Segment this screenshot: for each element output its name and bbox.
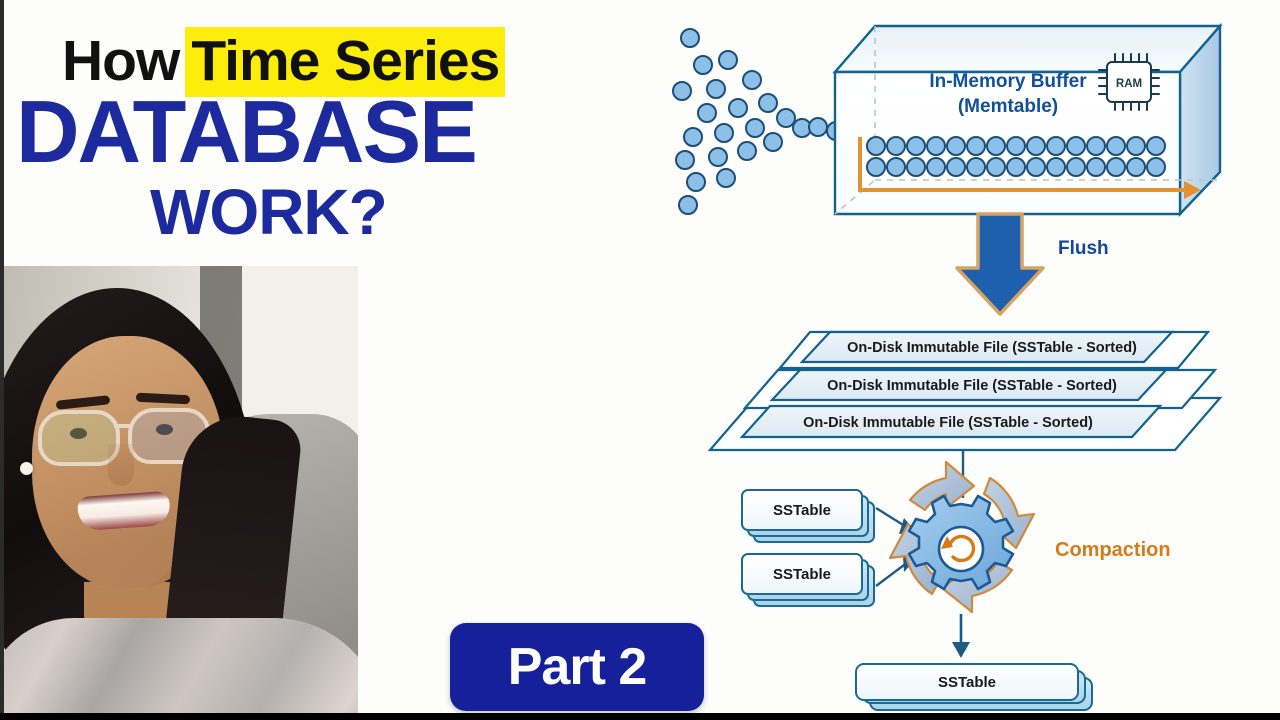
- presenter-nose: [108, 444, 134, 486]
- memtable-title-line2: (Memtable): [958, 96, 1058, 117]
- memtable-box: [835, 26, 1220, 214]
- part-badge-label: Part 2: [508, 641, 647, 693]
- lsm-diagram-svg: In-Memory Buffer (Memtable) R: [660, 0, 1280, 713]
- sstable-layer-label-1: On-Disk Immutable File (SSTable - Sorted…: [847, 340, 1137, 356]
- sstable-layer-label-2: On-Disk Immutable File (SSTable - Sorted…: [827, 378, 1117, 394]
- title-line-2-database: DATABASE: [16, 88, 476, 176]
- title-block: HowTime Series DATABASE WORK?: [0, 0, 660, 270]
- presenter-sweater: [4, 618, 358, 720]
- presenter-webcam: [4, 266, 358, 720]
- compaction-input-label-1: SSTable: [773, 502, 831, 519]
- compaction-output-arrow: [952, 614, 970, 658]
- ram-chip-label: RAM: [1116, 78, 1142, 90]
- title-line-3-work: WORK?: [150, 180, 387, 244]
- compaction-output-label: SSTable: [938, 674, 996, 691]
- flush-label: Flush: [1058, 238, 1109, 259]
- memtable-title-line1: In-Memory Buffer: [929, 71, 1087, 92]
- flush-arrow: [957, 214, 1043, 314]
- thumbnail-canvas: HowTime Series DATABASE WORK? Part 2: [0, 0, 1280, 720]
- presenter-earring: [20, 462, 33, 475]
- compaction-input-label-2: SSTable: [773, 566, 831, 583]
- sstable-layer-label-3: On-Disk Immutable File (SSTable - Sorted…: [803, 415, 1093, 431]
- compaction-label: Compaction: [1055, 539, 1171, 561]
- lsm-diagram: In-Memory Buffer (Memtable) R: [660, 0, 1280, 713]
